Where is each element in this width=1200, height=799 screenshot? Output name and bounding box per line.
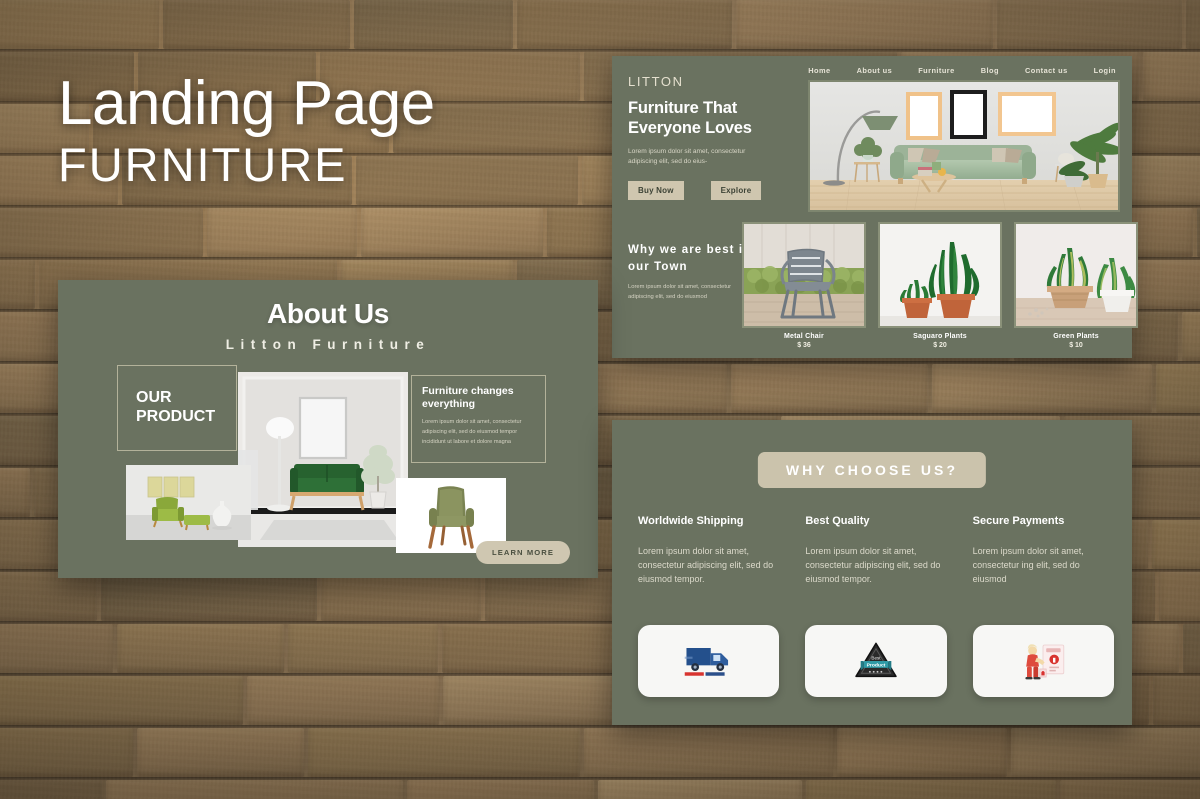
feature-secure-payments: Secure Payments Lorem ipsum dolor sit am… xyxy=(973,515,1114,587)
learn-more-button[interactable]: LEARN MORE xyxy=(476,541,570,564)
icon-card-payments[interactable] xyxy=(973,625,1114,697)
feature-list: Worldwide Shipping Lorem ipsum dolor sit… xyxy=(638,515,1114,587)
our-product-box: OUR PRODUCT xyxy=(117,365,237,451)
green-plants-illustration xyxy=(1016,224,1138,328)
about-card-heading: Furniture changes everything xyxy=(422,385,535,411)
about-feature-card: Furniture changes everything Lorem ipsum… xyxy=(411,375,546,463)
feature-icon-card-list: Best Product xyxy=(638,625,1114,697)
svg-text:Best: Best xyxy=(871,655,881,660)
product-card-saguaro-plants[interactable]: Saguaro Plants $ 20 xyxy=(878,222,1002,349)
feature-worldwide-shipping: Worldwide Shipping Lorem ipsum dolor sit… xyxy=(638,515,779,587)
poster-title-sub: FURNITURE xyxy=(58,141,435,188)
why-best-heading: Why we are best in our Town xyxy=(628,242,758,275)
svg-text:Product: Product xyxy=(867,662,886,668)
why-best-text-block: Why we are best in our Town Lorem ipsum … xyxy=(628,242,758,302)
product-card-list: Metal Chair $ 36 xyxy=(742,222,1138,349)
best-product-badge-icon: Best Product xyxy=(853,641,899,681)
poster-title-main: Landing Page xyxy=(58,72,435,135)
interior-green-sofa-illustration xyxy=(238,372,408,547)
feature-body: Lorem ipsum dolor sit amet, consectetur … xyxy=(805,545,946,587)
nav-item-about-us[interactable]: About us xyxy=(857,66,893,75)
about-us-mockup: About Us Litton Furniture OUR PRODUCT xyxy=(58,280,598,578)
product-name: Green Plants xyxy=(1014,333,1138,340)
brand-logo: LITTON xyxy=(628,74,684,89)
product-card-green-plants[interactable]: Green Plants $ 10 xyxy=(1014,222,1138,349)
feature-title: Best Quality xyxy=(805,515,946,527)
product-image-metal-chair xyxy=(742,222,866,328)
green-armchair-ottoman-illustration xyxy=(126,465,251,540)
saguaro-plants-illustration xyxy=(880,224,1002,328)
our-product-label: OUR PRODUCT xyxy=(136,389,236,427)
product-price: $ 36 xyxy=(742,342,866,349)
about-subtitle: Litton Furniture xyxy=(58,337,598,352)
nav-item-login[interactable]: Login xyxy=(1094,66,1116,75)
feature-body: Lorem ipsum dolor sit amet, consectetur … xyxy=(638,545,779,587)
feature-body: Lorem ipsum dolor sit amet, consectetur … xyxy=(973,545,1114,587)
product-price: $ 10 xyxy=(1014,342,1138,349)
icon-card-quality[interactable]: Best Product xyxy=(805,625,946,697)
nav-item-home[interactable]: Home xyxy=(808,66,830,75)
why-choose-us-mockup: WHY CHOOSE US? Worldwide Shipping Lorem … xyxy=(612,420,1132,725)
product-name: Metal Chair xyxy=(742,333,866,340)
hero-image-living-room xyxy=(808,80,1120,212)
about-title: About Us xyxy=(58,298,598,330)
about-image-interior xyxy=(238,372,408,547)
metal-chair-illustration xyxy=(744,224,866,328)
why-best-body: Lorem ipsum dolor sit amet, consectetur … xyxy=(628,283,744,302)
feature-title: Secure Payments xyxy=(973,515,1114,527)
hero-text-block: Furniture That Everyone Loves Lorem ipsu… xyxy=(628,98,788,200)
hero-heading: Furniture That Everyone Loves xyxy=(628,98,788,138)
living-room-illustration xyxy=(810,82,1120,212)
about-card-body: Lorem ipsum dolor sit amet, consectetur … xyxy=(422,418,535,447)
main-navigation: Home About us Furniture Blog Contact us … xyxy=(612,66,1132,75)
product-name: Saguaro Plants xyxy=(878,333,1002,340)
feature-best-quality: Best Quality Lorem ipsum dolor sit amet,… xyxy=(805,515,946,587)
nav-item-furniture[interactable]: Furniture xyxy=(918,66,955,75)
delivery-truck-icon xyxy=(683,641,735,681)
product-price: $ 20 xyxy=(878,342,1002,349)
about-image-armchair-ottoman xyxy=(126,465,251,540)
poster-title: Landing Page FURNITURE xyxy=(58,72,435,188)
feature-title: Worldwide Shipping xyxy=(638,515,779,527)
explore-button[interactable]: Explore xyxy=(711,181,762,200)
hero-button-group: Buy Now Explore xyxy=(628,181,788,200)
product-card-metal-chair[interactable]: Metal Chair $ 36 xyxy=(742,222,866,349)
secure-payment-icon xyxy=(1019,640,1067,682)
home-page-mockup: LITTON Home About us Furniture Blog Cont… xyxy=(612,56,1132,358)
nav-item-blog[interactable]: Blog xyxy=(981,66,999,75)
product-image-saguaro-plants xyxy=(878,222,1002,328)
hero-body: Lorem ipsum dolor sit amet, consectetur … xyxy=(628,147,770,167)
buy-now-button[interactable]: Buy Now xyxy=(628,181,684,200)
why-choose-us-pill: WHY CHOOSE US? xyxy=(758,452,986,488)
product-image-green-plants xyxy=(1014,222,1138,328)
nav-item-contact-us[interactable]: Contact us xyxy=(1025,66,1068,75)
icon-card-shipping[interactable] xyxy=(638,625,779,697)
